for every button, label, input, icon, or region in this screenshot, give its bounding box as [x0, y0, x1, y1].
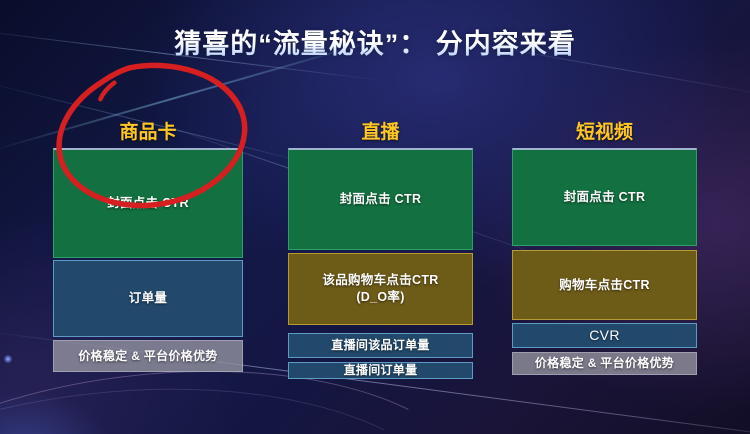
metric-block-label: 封面点击 CTR — [101, 195, 195, 212]
metric-block-cover-click-ctr: 封面点击 CTR — [53, 148, 243, 258]
columns-container: 商品卡 封面点击 CTR 订单量 价格稳定 & 平台价格优势 直播 封面点击 C… — [0, 0, 750, 434]
metric-block-label: CVR — [583, 326, 625, 345]
metric-block-price-advantage: 价格稳定 & 平台价格优势 — [53, 340, 243, 372]
column-livestream: 直播 封面点击 CTR 该品购物车点击CTR (D_O率) 直播间该品订单量 直… — [288, 148, 473, 379]
metric-block-label: 封面点击 CTR — [334, 191, 428, 208]
metric-block-label: 价格稳定 & 平台价格优势 — [529, 355, 680, 371]
metric-block-cover-click-ctr: 封面点击 CTR — [288, 148, 473, 250]
column-header-label: 商品卡 — [53, 117, 243, 144]
metric-block-order-volume: 订单量 — [53, 260, 243, 337]
metric-block-cart-click-ctr: 购物车点击CTR — [512, 250, 697, 320]
metric-block-label: 价格稳定 & 平台价格优势 — [72, 348, 223, 364]
metric-block-label: 该品购物车点击CTR — [316, 272, 444, 289]
metric-block-label: 直播间订单量 — [338, 362, 424, 378]
metric-block-live-item-orders: 直播间该品订单量 — [288, 333, 473, 358]
metric-block-sublabel: (D_O率) — [316, 289, 444, 306]
metric-block-label: 购物车点击CTR — [553, 277, 656, 294]
slide-canvas: 猜喜的“流量秘诀”： 分内容来看 猜喜的“流量秘诀”： 分内容来看 商品卡 封面… — [0, 0, 750, 434]
metric-block-cvr: CVR — [512, 323, 697, 348]
metric-block-label: 订单量 — [123, 290, 173, 307]
metric-block-label: 封面点击 CTR — [558, 189, 652, 206]
metric-block-cart-click-ctr: 该品购物车点击CTR (D_O率) — [288, 253, 473, 325]
column-header-label: 短视频 — [512, 117, 697, 144]
metric-block-label: 直播间该品订单量 — [325, 337, 435, 353]
column-short-video: 短视频 封面点击 CTR 购物车点击CTR CVR 价格稳定 & 平台价格优势 — [512, 148, 697, 375]
column-product-card: 商品卡 封面点击 CTR 订单量 价格稳定 & 平台价格优势 — [53, 148, 243, 376]
column-header-label: 直播 — [288, 117, 473, 144]
metric-block-label-wrap: 该品购物车点击CTR (D_O率) — [310, 272, 450, 306]
metric-block-price-advantage: 价格稳定 & 平台价格优势 — [512, 352, 697, 375]
metric-block-live-room-orders: 直播间订单量 — [288, 362, 473, 379]
metric-block-cover-click-ctr: 封面点击 CTR — [512, 148, 697, 246]
